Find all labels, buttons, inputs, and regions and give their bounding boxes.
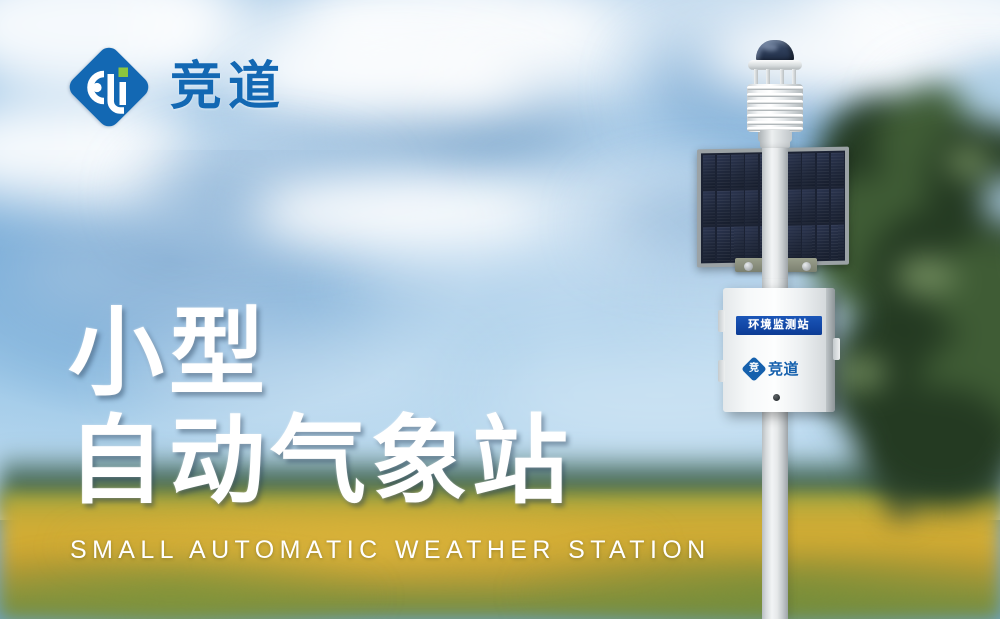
- sensor-mount-neck: [760, 130, 790, 148]
- solar-cell: [703, 155, 716, 190]
- bracket-bolt: [744, 262, 753, 271]
- monitoring-enclosure: 环境监测站 竞 竞道: [723, 288, 835, 412]
- logo-inner-glyphs: [66, 44, 152, 130]
- ultrasonic-sensor-dome-icon: [756, 40, 794, 62]
- solar-cell: [745, 190, 758, 225]
- bracket-bolt: [802, 262, 811, 271]
- solar-cell: [717, 190, 730, 225]
- shield-fin: [747, 86, 803, 90]
- solar-cell: [817, 152, 830, 187]
- solar-cell: [745, 154, 758, 189]
- sensor-arm: [792, 69, 796, 85]
- solar-cell: [788, 189, 801, 224]
- headline-line-1: 小型: [68, 300, 688, 408]
- shield-fin: [747, 100, 803, 104]
- solar-cell: [717, 154, 730, 189]
- solar-cell: [817, 189, 830, 224]
- enclosure-sign-plate: 环境监测站: [736, 316, 822, 335]
- sensor-arm: [766, 69, 770, 85]
- solar-cell: [802, 225, 815, 260]
- enclosure-sign-text: 环境监测站: [748, 320, 810, 331]
- enclosure-brand-badge: 竞 竞道: [745, 360, 799, 378]
- enclosure-latch: [833, 338, 840, 360]
- solar-cell: [802, 153, 815, 188]
- mini-logo-glyph: 竞: [747, 362, 761, 376]
- sensor-arm: [780, 69, 784, 85]
- solar-cell: [817, 225, 830, 260]
- solar-cell: [731, 154, 744, 189]
- solar-cell: [788, 225, 801, 260]
- headline-block: 小型 自动气象站: [68, 300, 688, 515]
- shield-fin: [747, 93, 803, 97]
- solar-cell: [745, 226, 758, 261]
- solar-cell: [831, 224, 844, 259]
- solar-cell: [731, 226, 744, 261]
- enclosure-brand-text: 竞道: [768, 362, 799, 377]
- shield-fin: [747, 107, 803, 111]
- solar-cell: [731, 190, 744, 225]
- shield-fin: [747, 114, 803, 118]
- solar-cell: [703, 191, 716, 226]
- jingdao-mini-logo-icon: 竞: [741, 356, 766, 381]
- mast-over-panel: [762, 148, 788, 278]
- solar-cell: [802, 189, 815, 224]
- solar-cell: [788, 153, 801, 188]
- solar-cell: [703, 227, 716, 262]
- enclosure-screw: [773, 394, 780, 401]
- solar-cell: [831, 188, 844, 223]
- subtitle-text: SMALL AUTOMATIC WEATHER STATION: [70, 538, 711, 563]
- brand-name-text: 竞道: [170, 61, 286, 113]
- sensor-transducer-arms: [752, 69, 798, 85]
- shield-fin: [747, 121, 803, 125]
- solar-cell: [831, 152, 844, 187]
- enclosure-hinge: [718, 310, 725, 332]
- headline-line-2: 自动气象站: [68, 408, 688, 516]
- jingdao-diamond-logo-icon: [66, 44, 152, 130]
- enclosure-hinge: [718, 360, 725, 382]
- brand-logo: 竞道: [66, 44, 286, 130]
- sensor-arm: [754, 69, 758, 85]
- radiation-shield: [747, 84, 803, 132]
- solar-cell: [717, 227, 730, 262]
- product-banner: 环境监测站 竞 竞道: [0, 0, 1000, 619]
